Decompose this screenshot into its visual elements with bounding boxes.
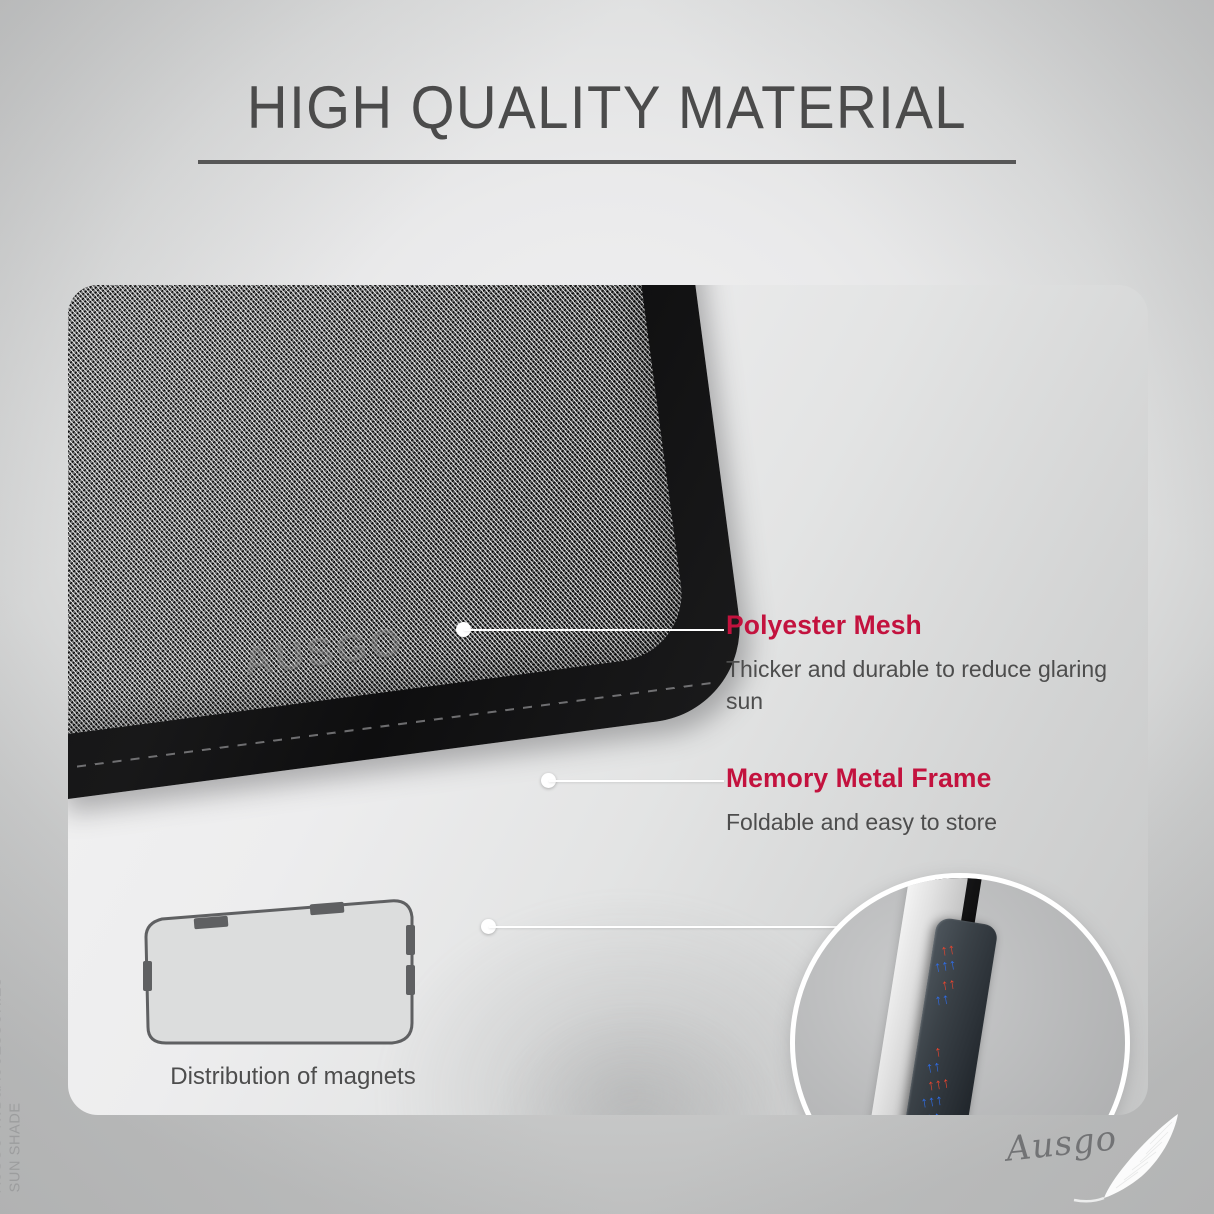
product-photo: AUSGO	[68, 285, 748, 835]
feather-icon	[1046, 1108, 1196, 1204]
pole-arrow-icon: ↑↑	[925, 1109, 942, 1115]
leader-line-polyester-mesh	[464, 629, 724, 631]
magnets-diagram-caption: Distribution of magnets	[128, 1063, 458, 1091]
panel-shadow-secondary	[488, 1005, 788, 1115]
feature-title: Memory Metal Frame	[726, 763, 1146, 795]
feature-polyester-mesh: Polyester Mesh Thicker and durable to re…	[726, 610, 1146, 717]
side-caption: AUSGO 4WD&ACCESSORIES SUN SHADE	[0, 952, 24, 1192]
magnet-block-left	[143, 961, 152, 991]
page-title-block: HIGH QUALITY MATERIAL	[0, 78, 1214, 164]
side-caption-line2: SUN SHADE	[7, 952, 24, 1192]
brand-logo: Ausgo	[1002, 1102, 1192, 1198]
title-underline	[198, 160, 1016, 164]
feature-body: Thicker and durable to reduce glaring su…	[726, 654, 1146, 717]
magnets-distribution-diagram	[138, 895, 438, 1055]
page-title: HIGH QUALITY MATERIAL	[36, 78, 1177, 138]
feature-title: Polyester Mesh	[726, 610, 1146, 642]
feature-body: Foldable and easy to store	[726, 807, 1146, 839]
leader-line-memory-metal-frame	[549, 780, 724, 782]
magnet-block-right-lower	[406, 965, 415, 995]
infographic-poster: HIGH QUALITY MATERIAL AUSGO 4WD&ACCESSOR…	[0, 0, 1214, 1214]
side-caption-line1: AUSGO 4WD&ACCESSORIES	[0, 952, 5, 1192]
magnet-block-right-upper	[406, 925, 415, 955]
content-panel: AUSGO Polyester Mesh Thicker and durable…	[68, 285, 1148, 1115]
pole-arrow-icon: ↑↑↑	[933, 957, 958, 975]
pole-arrow-icon: ↑↑↑	[920, 1092, 945, 1110]
leader-line-magnetic-blocks	[489, 926, 844, 928]
feather-quill-stem	[1074, 1198, 1104, 1201]
pole-arrow-icon: ↑↑	[933, 991, 950, 1008]
magnets-diagram-svg	[138, 895, 438, 1055]
shade-outline	[146, 901, 412, 1043]
feature-memory-metal-frame: Memory Metal Frame Foldable and easy to …	[726, 763, 1146, 839]
pole-arrow-icon: ↑↑	[925, 1059, 942, 1076]
